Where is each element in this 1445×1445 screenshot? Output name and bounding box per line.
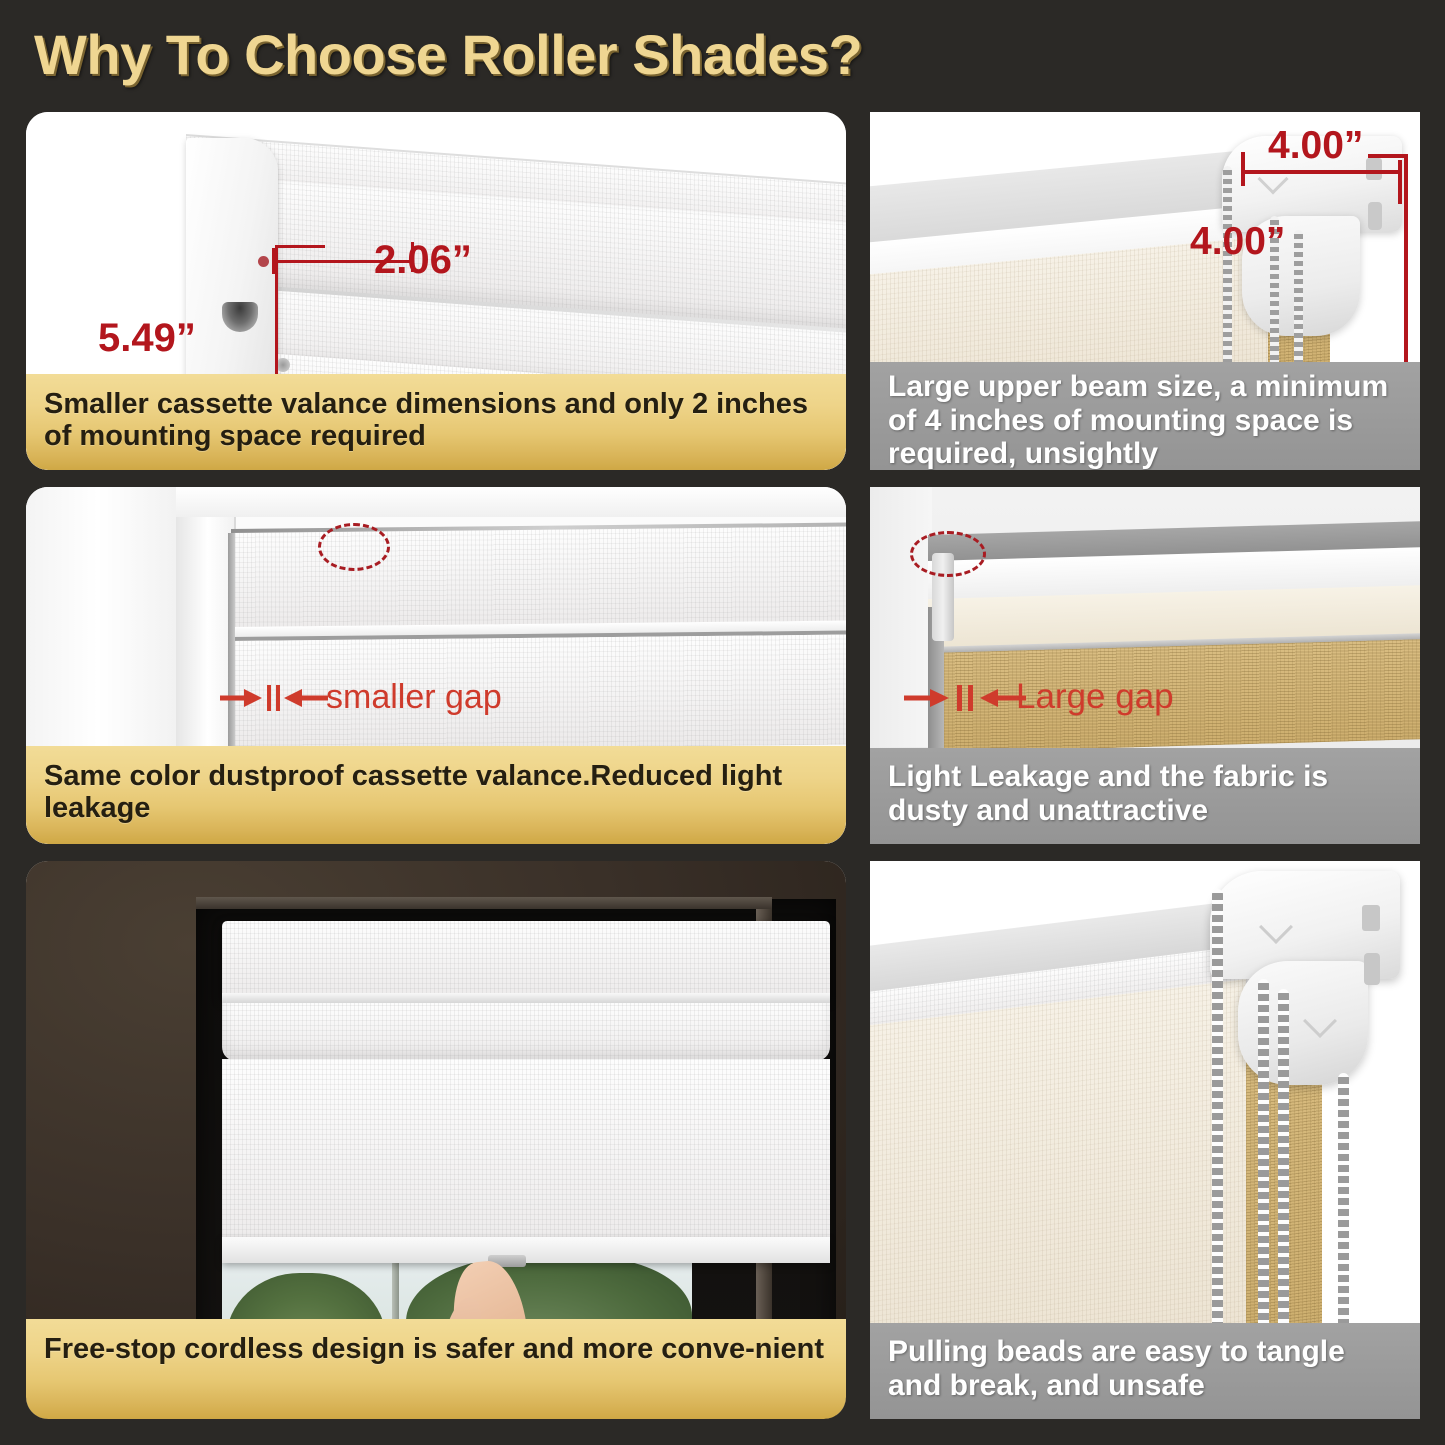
width-dimension-label: 2.06” xyxy=(374,238,472,283)
beam-width-tick-left xyxy=(1241,152,1245,186)
cordless-cassette-valance xyxy=(222,921,830,999)
window-frame-top-molding xyxy=(176,487,846,517)
panel-caption-dustproof-valance: Same color dustproof cassette valance.Re… xyxy=(26,746,846,844)
bottom-rail xyxy=(222,1237,830,1263)
panel-caption-cassette-dimensions: Smaller cassette valance dimensions and … xyxy=(26,374,846,470)
height-dimension-label: 5.49” xyxy=(98,316,196,361)
cordless-shade-fabric xyxy=(222,1059,830,1255)
bead-chain-3 xyxy=(1278,989,1289,1351)
height-dimension-tick-top xyxy=(275,245,325,248)
panel-cordless-design: Free-stop cordless design is safer and m… xyxy=(26,861,846,1419)
panel-pulling-beads: Pulling beads are easy to tangle and bre… xyxy=(870,861,1420,1419)
panel-dustproof-valance: smaller gap Same color dustproof cassett… xyxy=(26,487,846,844)
bracket-hook-slot-lower-icon xyxy=(1368,202,1382,230)
bead-chain-2 xyxy=(1258,979,1269,1351)
bracket-screw-lower-icon xyxy=(276,358,290,372)
highlight-ellipse xyxy=(910,531,986,577)
bracket-slot-b-icon xyxy=(1364,953,1380,985)
bracket-screw-upper-icon xyxy=(258,256,269,267)
bead-chain-4 xyxy=(1338,1073,1349,1351)
panel-large-upper-beam: 4.00” 4.00” Large upper beam size, a min… xyxy=(870,112,1420,470)
panel-light-leakage: Large gap Light Leakage and the fabric i… xyxy=(870,487,1420,844)
infographic-page: Why To Choose Roller Shades? 2.06” xyxy=(0,0,1445,1445)
beam-width-dimension-line xyxy=(1242,170,1402,174)
panel-caption-light-leakage: Light Leakage and the fabric is dusty an… xyxy=(870,748,1420,844)
panel-caption-cordless-design: Free-stop cordless design is safer and m… xyxy=(26,1319,846,1419)
panel-cassette-dimensions: 2.06” 5.49” Smaller cassette valance dim… xyxy=(26,112,846,470)
page-title: Why To Choose Roller Shades? xyxy=(34,22,862,87)
large-gap-arrows-icon xyxy=(902,681,1032,715)
window-frame-top-edge xyxy=(196,897,772,909)
beam-height-tick-top xyxy=(1368,154,1408,158)
bracket-hook-slot-upper-icon xyxy=(1366,158,1382,180)
panel-caption-pulling-beads: Pulling beads are easy to tangle and bre… xyxy=(870,1323,1420,1419)
smaller-gap-label: smaller gap xyxy=(326,678,502,717)
highlight-ellipse xyxy=(318,523,390,571)
beam-width-dimension-label: 4.00” xyxy=(1268,124,1363,168)
panel-caption-large-upper-beam: Large upper beam size, a minimum of 4 in… xyxy=(870,362,1420,470)
bracket-slot-a-icon xyxy=(1362,905,1380,931)
gap-edge-strip xyxy=(228,533,235,751)
bead-chain-1 xyxy=(1212,889,1223,1349)
beam-height-dimension-label: 4.00” xyxy=(1190,220,1285,264)
smaller-gap-arrows-icon xyxy=(218,681,338,715)
large-gap-label: Large gap xyxy=(1016,677,1174,717)
cassette-roll-front xyxy=(222,1003,830,1061)
beam-width-tick-right xyxy=(1398,160,1402,204)
